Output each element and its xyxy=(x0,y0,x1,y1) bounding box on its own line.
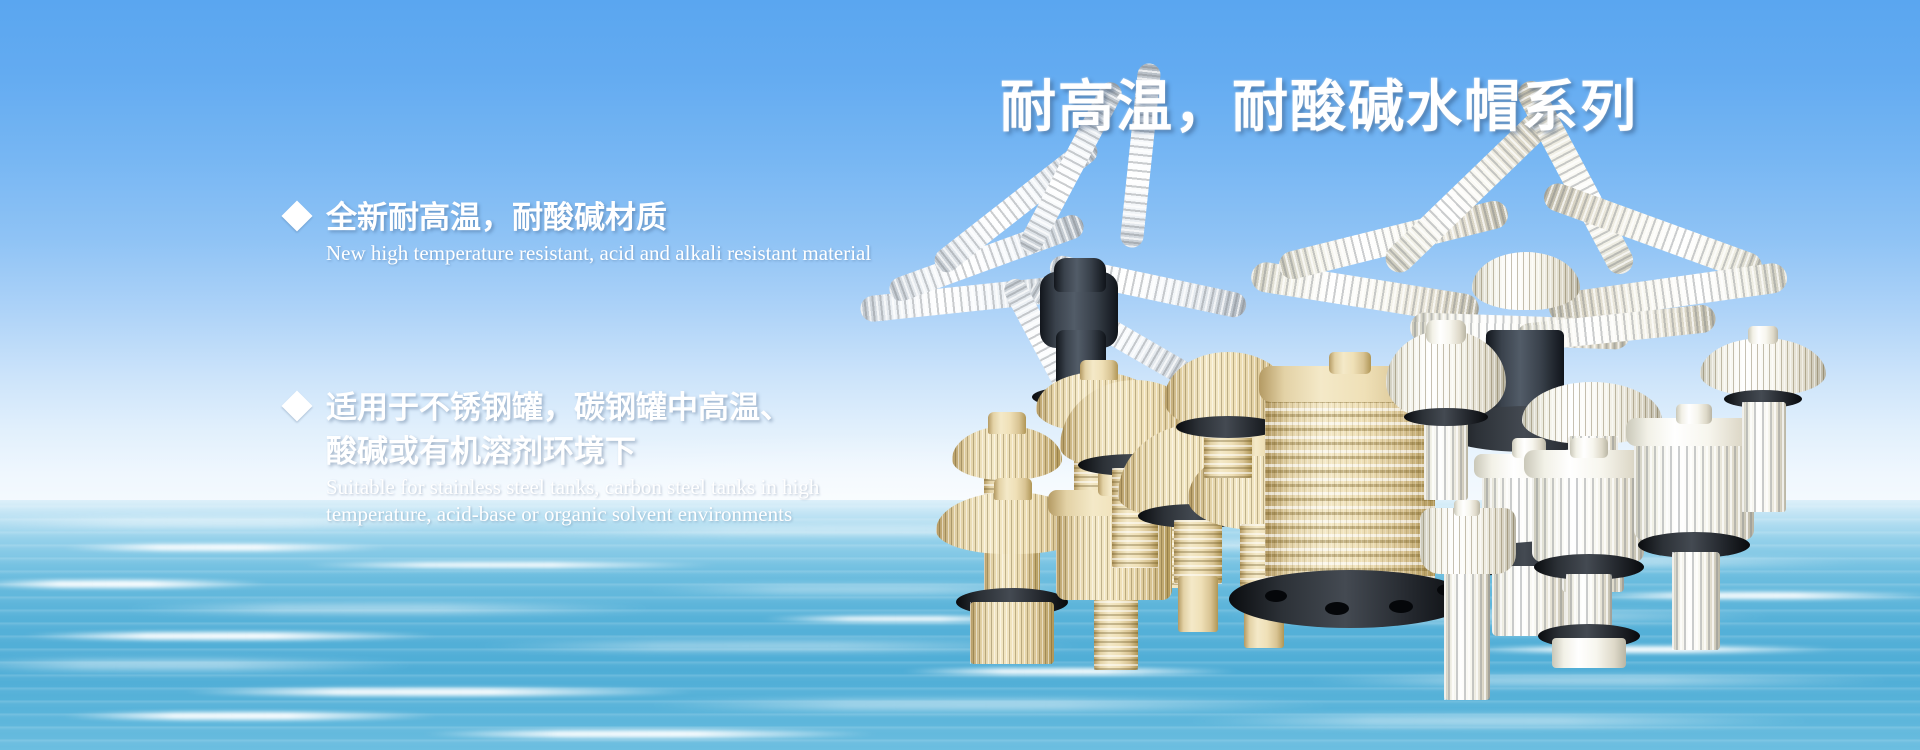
diamond-bullet-icon xyxy=(281,200,312,231)
diamond-bullet-icon xyxy=(281,390,312,421)
page-title: 耐高温，耐酸碱水帽系列 xyxy=(1000,62,1638,143)
product-banner: 耐高温，耐酸碱水帽系列 全新耐高温，耐酸碱材质 New high tempera… xyxy=(0,0,1920,750)
bullet-2-en-line-1: Suitable for stainless steel tanks, carb… xyxy=(326,474,819,501)
feature-bullet-2: 适用于不锈钢罐，碳钢罐中高温、 酸碱或有机溶剂环境下 Suitable for … xyxy=(286,386,819,528)
bullet-1-cn-line-1: 全新耐高温，耐酸碱材质 xyxy=(326,196,667,240)
bullet-2-cn-line-2: 酸碱或有机溶剂环境下 xyxy=(326,430,819,474)
bullet-1-en-line-1: New high temperature resistant, acid and… xyxy=(326,240,871,267)
bullet-2-cn-line-1: 适用于不锈钢罐，碳钢罐中高温、 xyxy=(326,386,791,430)
ivory-nozzle xyxy=(1420,500,1516,700)
feature-bullet-1: 全新耐高温，耐酸碱材质 New high temperature resista… xyxy=(286,196,871,267)
bullet-2-en-line-2: temperature, acid-base or organic solven… xyxy=(326,501,819,528)
spider-hub-cap xyxy=(1472,252,1580,310)
ivory-nozzle xyxy=(1700,332,1826,512)
